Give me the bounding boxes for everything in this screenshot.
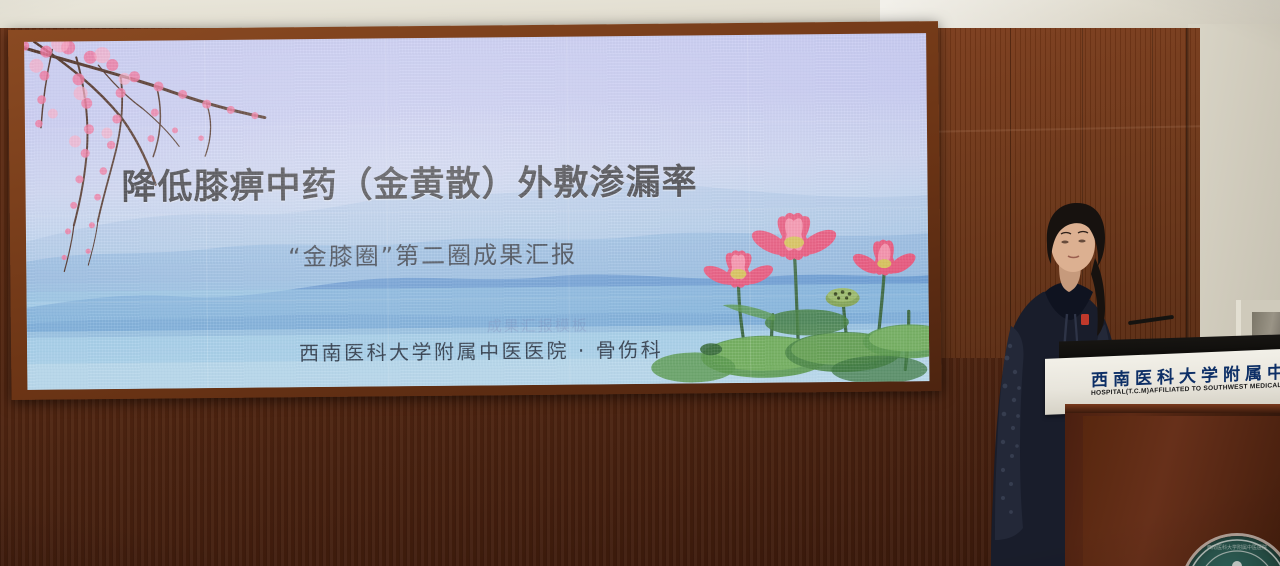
projection-screen: 成果汇报模板 降低膝痹中药（金黄散）外敷渗漏率 “金膝圈”第二圈成果汇报 西南医… [24,33,929,390]
podium-lip [1065,404,1280,413]
hospital-emblem-icon: 西南医科大学附属中医医院 [1183,536,1280,566]
lotus-seed-pod [826,288,860,307]
podium: 西南医科大学附属中醫 HOSPITAL(T.C.M)AFFILIATED TO … [1045,338,1280,566]
slide-organization: 西南医科大学附属中医医院 · 骨伤科 [299,331,919,366]
svg-text:西南医科大学附属中医医院: 西南医科大学附属中医医院 [1207,544,1267,551]
photo-scene: 成果汇报模板 降低膝痹中药（金黄散）外敷渗漏率 “金膝圈”第二圈成果汇报 西南医… [0,0,1280,566]
podium-front-face: 西南医科大学附属中医医院 [1083,416,1280,566]
slide-subtitle: “金膝圈”第二圈成果汇报 [288,232,888,273]
projection-screen-frame: 成果汇报模板 降低膝痹中药（金黄散）外敷渗漏率 “金膝圈”第二圈成果汇报 西南医… [8,21,942,400]
slide-watermark: 成果汇报模板 [487,314,589,336]
slide-title: 降低膝痹中药（金黄散）外敷渗漏率 [121,152,861,210]
